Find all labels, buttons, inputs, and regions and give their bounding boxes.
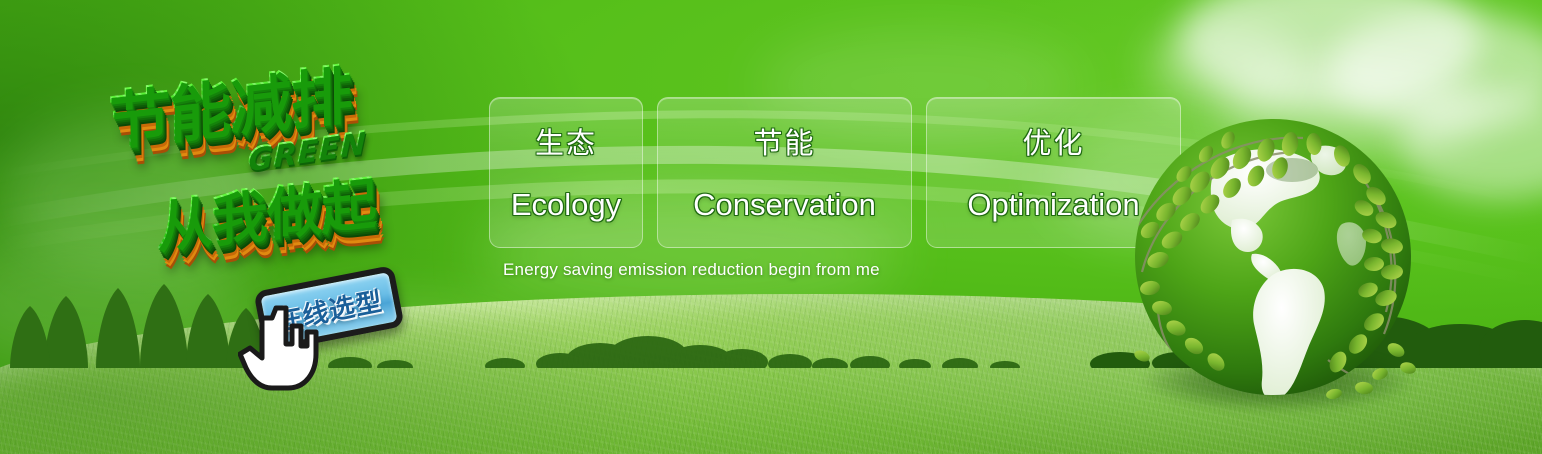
- feature-cards: 生态 Ecology 节能 Conservation 优化 Optimizati…: [489, 97, 1181, 248]
- leafy-earth-globe-icon: [1128, 112, 1418, 402]
- feature-card-conservation[interactable]: 节能 Conservation: [657, 97, 912, 248]
- hero-3d-title: 节能减排 GREEN 从我做起: [86, 19, 500, 297]
- feature-card-en-label: Ecology: [511, 187, 621, 223]
- green-environmental-banner: 节能减排 GREEN 从我做起 在线选型 生态 Ecology 节能 Conse…: [0, 0, 1542, 454]
- hero-title-line3: 从我做起: [156, 170, 375, 260]
- pointing-hand-cursor-icon: [238, 300, 324, 396]
- feature-card-en-label: Optimization: [967, 187, 1139, 223]
- leafy-earth-globe: [1128, 112, 1428, 417]
- feature-card-ecology[interactable]: 生态 Ecology: [489, 97, 643, 248]
- feature-card-en-label: Conservation: [693, 187, 876, 223]
- feature-card-cn-label: 生态: [535, 120, 597, 162]
- tagline: Energy saving emission reduction begin f…: [503, 260, 880, 280]
- feature-card-cn-label: 优化: [1022, 120, 1084, 162]
- feature-card-cn-label: 节能: [753, 120, 815, 162]
